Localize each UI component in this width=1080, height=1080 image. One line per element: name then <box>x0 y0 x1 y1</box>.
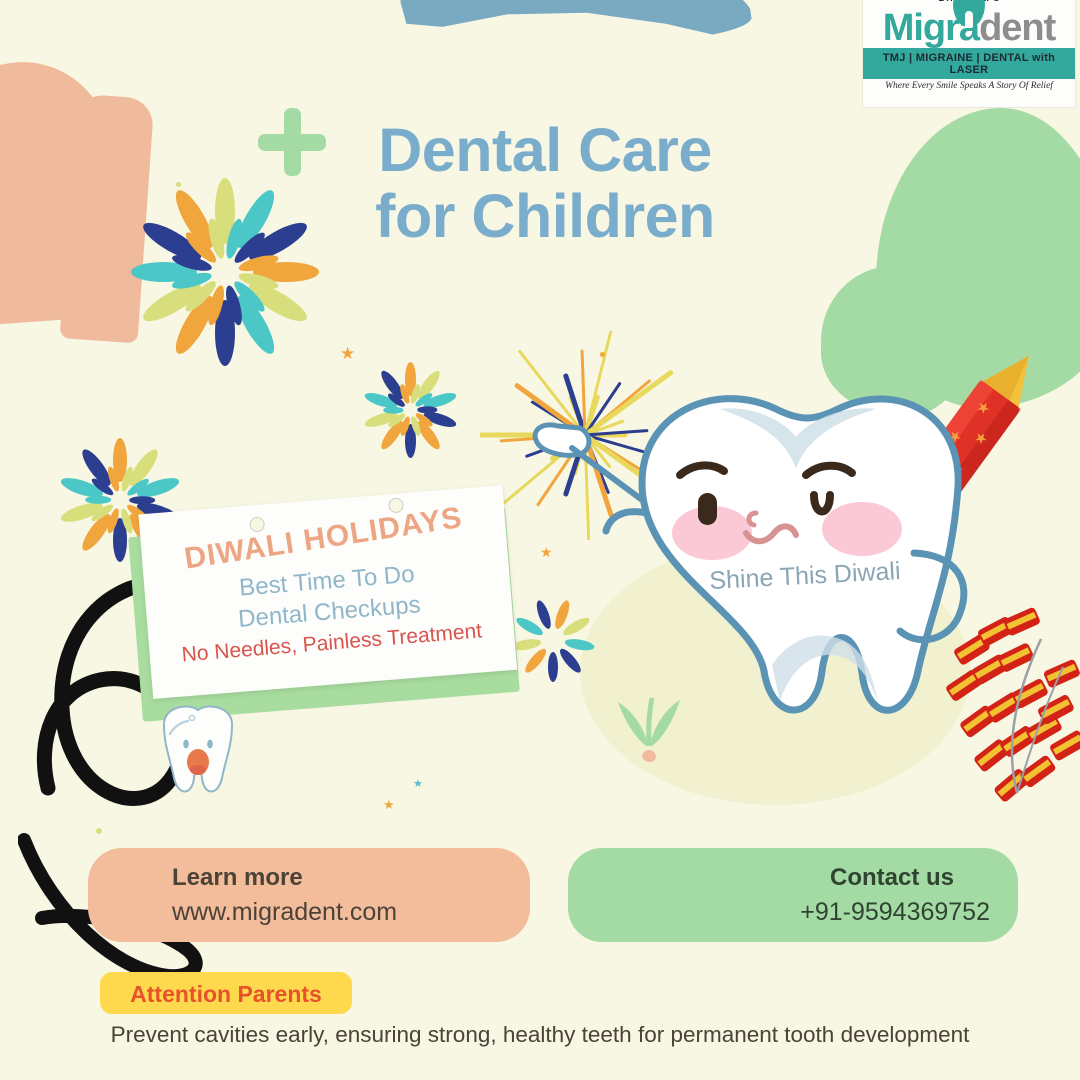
sparkle-star: ★ <box>413 779 423 790</box>
contact-us-button[interactable]: Contact us +91-9594369752 <box>568 848 1018 942</box>
sparkle-star: ★ <box>340 345 355 362</box>
learn-more-button[interactable]: Learn more www.migradent.com <box>88 848 530 942</box>
learn-more-title: Learn more <box>172 864 303 892</box>
sign-card: DIWALI HOLIDAYS Best Time To Do Dental C… <box>138 485 517 699</box>
sparkle-star: ★ <box>540 545 553 559</box>
logo-services-band: TMJ | MIGRAINE | DENTAL with LASER <box>863 48 1075 79</box>
contact-us-phone: +91-9594369752 <box>800 898 990 927</box>
headline-line-2: for Children <box>330 184 760 250</box>
sparkle-dot <box>600 352 605 357</box>
brand-logo[interactable]: Dr. Sarkar's Migradent TMJ | MIGRAINE | … <box>862 0 1076 108</box>
footer-text: Prevent cavities early, ensuring strong,… <box>0 1022 1080 1048</box>
attention-parents-badge: Attention Parents <box>100 972 352 1014</box>
logo-tagline: Where Every Smile Speaks A Story Of Reli… <box>863 79 1075 91</box>
sparkle-star: ★ <box>383 798 395 811</box>
mini-tooth-character-icon <box>152 700 244 800</box>
plus-icon <box>258 108 326 176</box>
logo-word-part2: dent <box>979 7 1055 49</box>
learn-more-url: www.migradent.com <box>172 898 397 927</box>
peach-shape-left-inner <box>60 94 155 344</box>
diwali-holidays-sign: DIWALI HOLIDAYS Best Time To Do Dental C… <box>119 469 527 735</box>
poster-canvas: ★ ★ ★ ★ ★ Dental Care for Children Dr. S… <box>0 0 1080 1080</box>
attention-parents-label: Attention Parents <box>100 981 352 1008</box>
headline-line-1: Dental Care <box>330 118 760 184</box>
contact-us-title: Contact us <box>830 864 954 892</box>
sparkle-dot <box>176 182 181 187</box>
page-title: Dental Care for Children <box>330 118 760 250</box>
blue-brush-stroke <box>392 0 752 44</box>
